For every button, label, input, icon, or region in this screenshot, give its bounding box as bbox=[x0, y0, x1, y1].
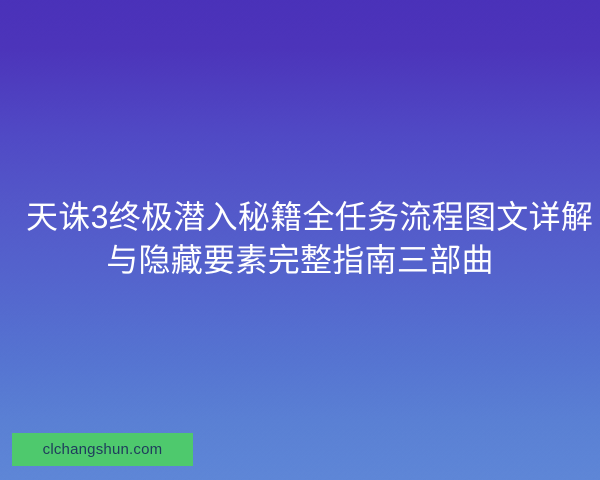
title-banner: 天诛3终极潜入秘籍全任务流程图文详解 与隐藏要素完整指南三部曲 clchangs… bbox=[0, 0, 600, 480]
site-watermark-label: clchangshun.com bbox=[43, 442, 163, 457]
page-title: 天诛3终极潜入秘籍全任务流程图文详解 与隐藏要素完整指南三部曲 bbox=[0, 196, 600, 282]
page-title-line-2: 与隐藏要素完整指南三部曲 bbox=[26, 239, 574, 282]
page-title-line-1: 天诛3终极潜入秘籍全任务流程图文详解 bbox=[26, 196, 574, 239]
site-watermark-badge[interactable]: clchangshun.com bbox=[12, 433, 193, 466]
